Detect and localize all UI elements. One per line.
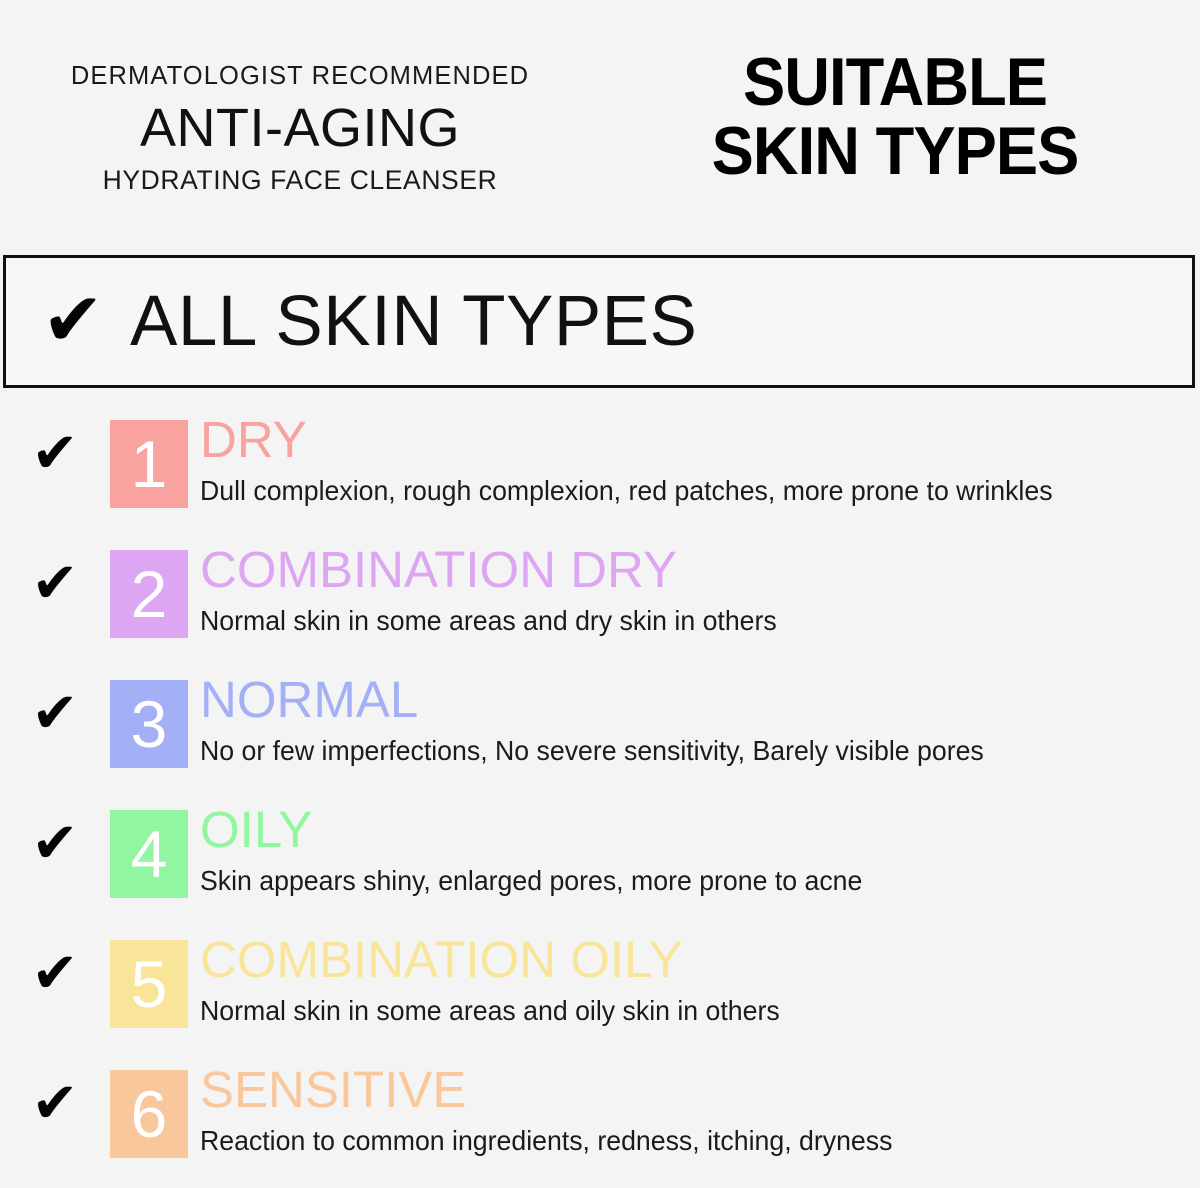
skin-type-number: 3 xyxy=(131,691,168,757)
skin-type-title: COMBINATION DRY xyxy=(200,544,1200,595)
checkmark-icon: ✔ xyxy=(0,928,110,1002)
list-item: ✔ 5 COMBINATION OILY Normal skin in some… xyxy=(0,928,1200,1058)
skin-type-number: 2 xyxy=(131,561,168,627)
header: DERMATOLOGIST RECOMMENDED ANTI-AGING HYD… xyxy=(0,0,1200,252)
headline-block: SUITABLE SKIN TYPES xyxy=(600,0,1200,187)
skin-type-badge: 4 xyxy=(110,810,188,898)
skin-types-list: ✔ 1 DRY Dull complexion, rough complexio… xyxy=(0,408,1200,1188)
skin-type-number: 4 xyxy=(131,821,168,887)
skin-type-badge: 6 xyxy=(110,1070,188,1158)
skin-type-badge: 3 xyxy=(110,680,188,768)
list-item: ✔ 4 OILY Skin appears shiny, enlarged po… xyxy=(0,798,1200,928)
skin-type-body: SENSITIVE Reaction to common ingredients… xyxy=(188,1058,1200,1155)
skin-type-title: COMBINATION OILY xyxy=(200,934,1200,985)
skin-type-description: Normal skin in some areas and dry skin i… xyxy=(200,607,1170,635)
skin-type-number: 5 xyxy=(131,951,168,1017)
checkmark-icon: ✔ xyxy=(0,1058,110,1132)
skin-type-number: 1 xyxy=(131,431,168,497)
skin-type-body: COMBINATION OILY Normal skin in some are… xyxy=(188,928,1200,1025)
product-block: DERMATOLOGIST RECOMMENDED ANTI-AGING HYD… xyxy=(0,0,600,194)
skin-type-badge: 2 xyxy=(110,550,188,638)
headline-line-1: SUITABLE xyxy=(621,48,1170,117)
checkmark-icon: ✔ xyxy=(0,538,110,612)
list-item: ✔ 2 COMBINATION DRY Normal skin in some … xyxy=(0,538,1200,668)
skin-type-description: Reaction to common ingredients, redness,… xyxy=(200,1127,1170,1155)
skin-type-description: No or few imperfections, No severe sensi… xyxy=(200,737,1170,765)
skin-type-body: OILY Skin appears shiny, enlarged pores,… xyxy=(188,798,1200,895)
checkmark-icon: ✔ xyxy=(0,408,110,482)
skin-type-title: OILY xyxy=(200,804,1200,855)
checkmark-icon: ✔ xyxy=(42,283,104,357)
skin-type-badge: 1 xyxy=(110,420,188,508)
checkmark-icon: ✔ xyxy=(0,668,110,742)
skin-type-description: Skin appears shiny, enlarged pores, more… xyxy=(200,867,1170,895)
all-skin-types-banner: ✔ ALL SKIN TYPES xyxy=(3,255,1195,388)
list-item: ✔ 1 DRY Dull complexion, rough complexio… xyxy=(0,408,1200,538)
skin-type-badge: 5 xyxy=(110,940,188,1028)
skin-type-body: DRY Dull complexion, rough complexion, r… xyxy=(188,408,1200,505)
list-item: ✔ 3 NORMAL No or few imperfections, No s… xyxy=(0,668,1200,798)
skin-type-title: SENSITIVE xyxy=(200,1064,1200,1115)
product-title: ANTI-AGING xyxy=(0,96,600,162)
checkmark-icon: ✔ xyxy=(0,798,110,872)
skin-type-title: DRY xyxy=(200,414,1200,465)
headline-line-2: SKIN TYPES xyxy=(621,117,1170,186)
skin-type-body: NORMAL No or few imperfections, No sever… xyxy=(188,668,1200,765)
product-kicker: DERMATOLOGIST RECOMMENDED xyxy=(0,64,600,90)
skin-type-description: Dull complexion, rough complexion, red p… xyxy=(200,477,1170,505)
skin-type-title: NORMAL xyxy=(200,674,1200,725)
skin-type-body: COMBINATION DRY Normal skin in some area… xyxy=(188,538,1200,635)
skin-type-description: Normal skin in some areas and oily skin … xyxy=(200,997,1170,1025)
product-subtitle: HYDRATING FACE CLEANSER xyxy=(0,167,600,194)
skin-type-number: 6 xyxy=(131,1081,168,1147)
list-item: ✔ 6 SENSITIVE Reaction to common ingredi… xyxy=(0,1058,1200,1188)
all-skin-types-label: ALL SKIN TYPES xyxy=(130,286,697,357)
